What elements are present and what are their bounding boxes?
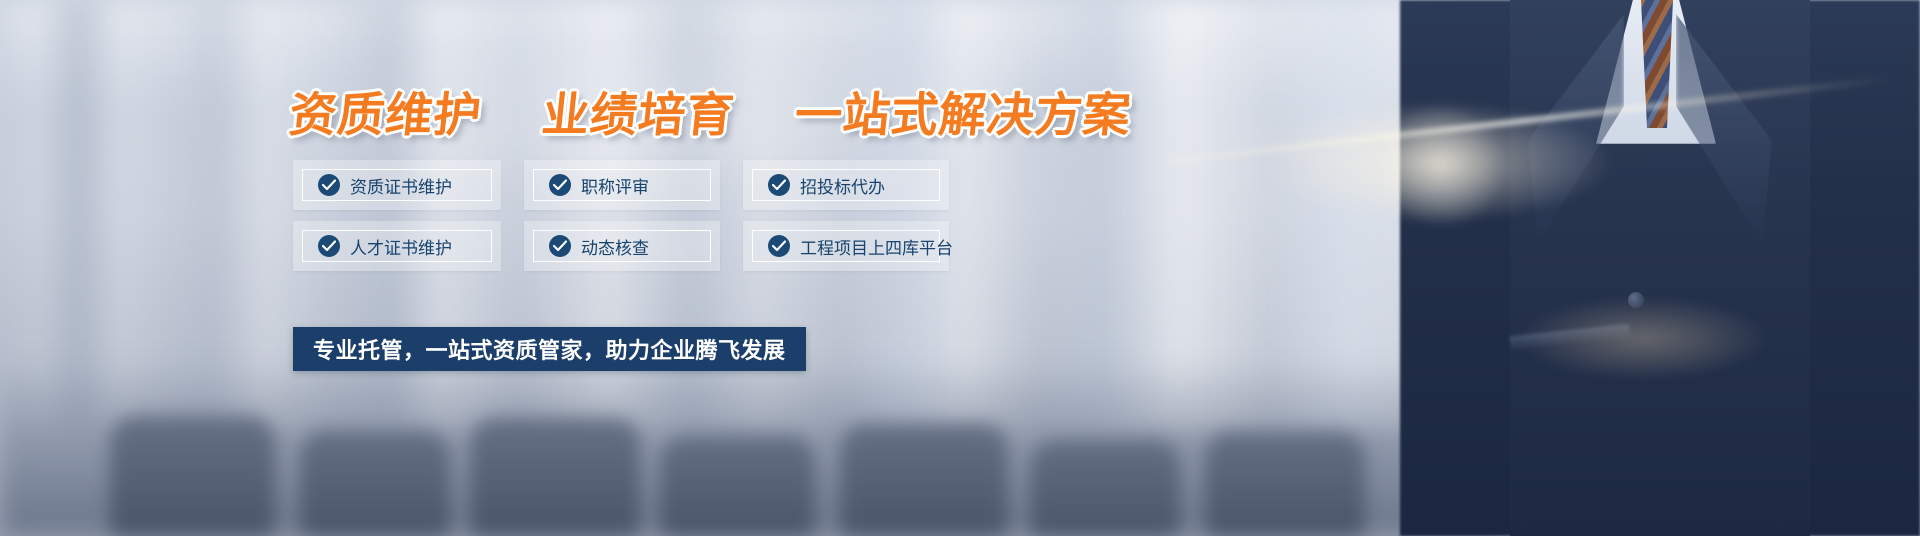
badge-label: 资质证书维护 xyxy=(350,173,452,198)
service-badge-grid: 资质证书维护 职称评审 招投 xyxy=(293,160,973,282)
badge-inner-frame: 工程项目上四库平台 xyxy=(752,230,940,262)
badge-inner-frame: 动态核查 xyxy=(533,230,711,262)
check-circle-icon xyxy=(318,174,340,196)
service-badge[interactable]: 人才证书维护 xyxy=(293,221,501,271)
badge-label: 职称评审 xyxy=(581,173,649,198)
background-chair xyxy=(1205,432,1365,536)
badge-inner-frame: 资质证书维护 xyxy=(302,169,492,201)
service-badge[interactable]: 招投标代办 xyxy=(743,160,949,210)
badge-inner-frame: 职称评审 xyxy=(533,169,711,201)
suit-button xyxy=(1628,292,1644,308)
banner-content: 资质维护 业绩培育 一站式解决方案 资质证书维护 xyxy=(0,0,1100,536)
check-circle-icon xyxy=(549,235,571,257)
service-badge[interactable]: 工程项目上四库平台 xyxy=(743,221,949,271)
badge-row-1: 资质证书维护 职称评审 招投 xyxy=(293,160,973,210)
banner-headline: 资质维护 业绩培育 一站式解决方案 xyxy=(286,76,1135,145)
badge-label: 动态核查 xyxy=(581,234,649,259)
service-badge[interactable]: 动态核查 xyxy=(524,221,720,271)
tagline-bar: 专业托管，一站式资质管家，助力企业腾飞发展 xyxy=(293,327,806,371)
check-circle-icon xyxy=(318,235,340,257)
headline-part-3: 一站式解决方案 xyxy=(792,88,1134,143)
badge-label: 招投标代办 xyxy=(800,173,885,198)
badge-label: 工程项目上四库平台 xyxy=(800,234,953,259)
check-circle-icon xyxy=(768,235,790,257)
promo-banner: 资质维护 业绩培育 一站式解决方案 资质证书维护 xyxy=(0,0,1920,536)
headline-part-1: 资质维护 xyxy=(287,88,485,143)
check-circle-icon xyxy=(768,174,790,196)
tagline-text: 专业托管，一站式资质管家，助力企业腾飞发展 xyxy=(313,333,786,365)
check-circle-icon xyxy=(549,174,571,196)
service-badge[interactable]: 职称评审 xyxy=(524,160,720,210)
businessman-photo xyxy=(1360,0,1920,536)
service-badge[interactable]: 资质证书维护 xyxy=(293,160,501,210)
headline-part-2: 业绩培育 xyxy=(539,88,737,143)
badge-inner-frame: 人才证书维护 xyxy=(302,230,492,262)
badge-inner-frame: 招投标代办 xyxy=(752,169,940,201)
badge-label: 人才证书维护 xyxy=(350,234,452,259)
badge-row-2: 人才证书维护 动态核查 工程 xyxy=(293,221,973,271)
